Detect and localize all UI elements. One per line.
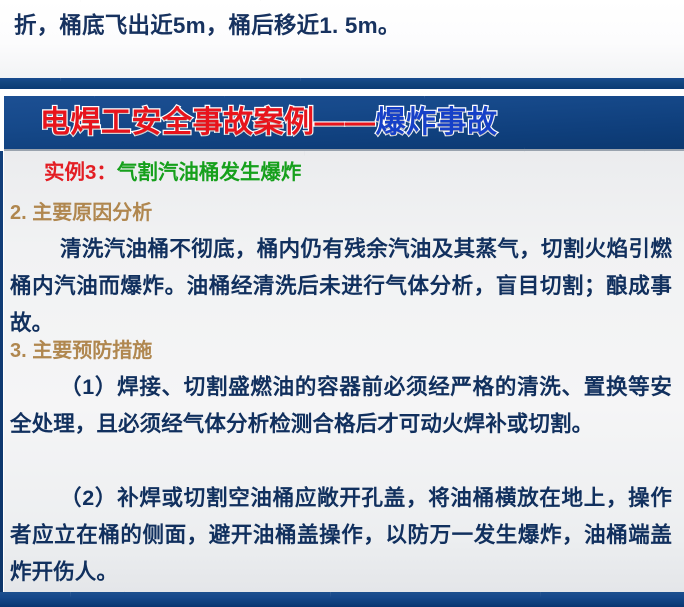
slide-content: 实例3：气割汽油桶发生爆炸 2. 主要原因分析 清洗汽油桶不彻底，桶内仍有残余汽… [4,151,684,592]
top-accent-bar-shine [0,78,684,89]
previous-slide-text: 折，桶底飞出近5m，桶后移近1. 5m。 [14,8,401,40]
section-paragraph-prevention-1: （1）焊接、切割盛燃油的容器前必须经严格的清洗、置换等安全处理，且必须经气体分析… [10,369,672,443]
case-subject: 气割汽油桶发生爆炸 [117,161,302,184]
section-heading-cause: 2. 主要原因分析 [10,200,152,226]
case-label: 实例3： [44,161,117,184]
section-paragraph-prevention-2: （2）补焊或切割空油桶应敞开孔盖，将油桶横放在地上，操作者应立在桶的侧面，避开油… [10,480,672,591]
top-accent-bar [0,78,684,89]
left-edge-rail [0,151,3,592]
bottom-accent-bar [0,592,684,607]
page-title: 电焊工安全事故案例——爆炸事故 [40,102,498,143]
section-heading-prevention: 3. 主要预防措施 [10,338,152,364]
bottom-accent-bar-shine [0,592,684,607]
presentation-slide: 折，桶底飞出近5m，桶后移近1. 5m。 电焊工安全事故案例——爆炸事故 实例3… [0,0,684,607]
banner-separator-gap [0,89,684,96]
page-title-highlight: 爆炸事故 [376,106,498,139]
previous-slide-text-region: 折，桶底飞出近5m，桶后移近1. 5m。 [0,0,684,78]
case-title: 实例3：气割汽油桶发生爆炸 [44,160,301,186]
page-title-primary: 电焊工安全事故案例—— [40,106,376,139]
title-banner: 电焊工安全事故案例——爆炸事故 [4,96,684,149]
section-paragraph-cause: 清洗汽油桶不彻底，桶内仍有残余汽油及其蒸气，切割火焰引燃桶内汽油而爆炸。油桶经清… [10,231,672,342]
